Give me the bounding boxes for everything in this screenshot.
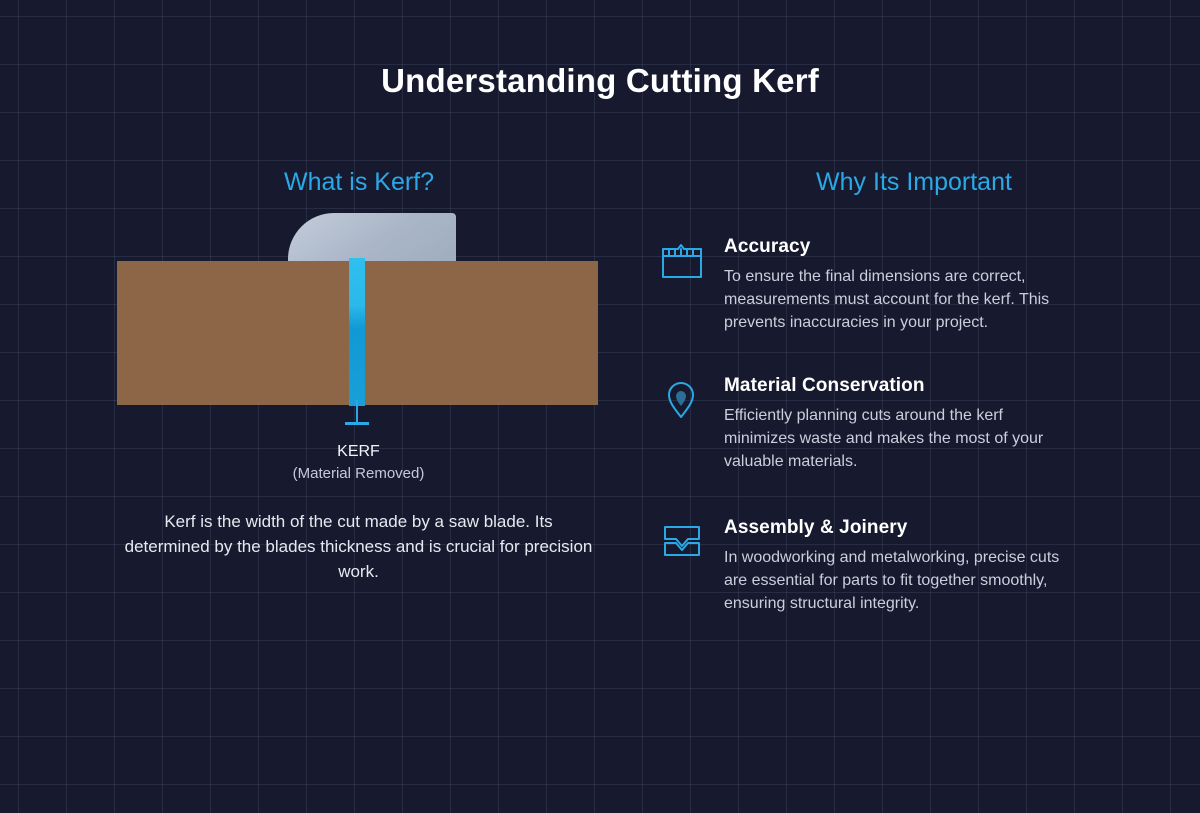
- feature-body: Material Conservation Efficiently planni…: [724, 375, 1160, 473]
- right-column-heading: Why Its Important: [660, 168, 1168, 197]
- kerf-sublabel: (Material Removed): [180, 465, 537, 482]
- kerf-diagram: KERF (Material Removed): [0, 0, 600, 500]
- ruler-icon: [660, 240, 704, 282]
- feature-title: Material Conservation: [724, 375, 1160, 397]
- feature-item-material-conservation: Material Conservation Efficiently planni…: [660, 375, 1160, 473]
- feature-item-assembly-joinery: Assembly & Joinery In woodworking and me…: [660, 517, 1160, 615]
- dovetail-joint-icon: [660, 521, 704, 563]
- kerf-measure-cap: [345, 422, 369, 425]
- feature-list: Accuracy To ensure the final dimensions …: [660, 236, 1160, 656]
- kerf-description-text: Kerf is the width of the cut made by a s…: [120, 509, 597, 584]
- infographic-canvas: Understanding Cutting Kerf What is Kerf?…: [0, 0, 1200, 813]
- feature-body: Accuracy To ensure the final dimensions …: [724, 236, 1160, 334]
- feature-description: In woodworking and metalworking, precise…: [724, 546, 1076, 615]
- leaf-pin-icon: [660, 379, 704, 421]
- kerf-label: KERF: [180, 443, 537, 461]
- kerf-cut-channel: [349, 258, 365, 406]
- feature-title: Assembly & Joinery: [724, 517, 1160, 539]
- feature-description: To ensure the final dimensions are corre…: [724, 265, 1076, 334]
- feature-description: Efficiently planning cuts around the ker…: [724, 404, 1076, 473]
- saw-blade-shape: [288, 213, 456, 262]
- feature-item-accuracy: Accuracy To ensure the final dimensions …: [660, 236, 1160, 334]
- feature-body: Assembly & Joinery In woodworking and me…: [724, 517, 1160, 615]
- kerf-measure-line: [356, 400, 358, 424]
- feature-title: Accuracy: [724, 236, 1160, 258]
